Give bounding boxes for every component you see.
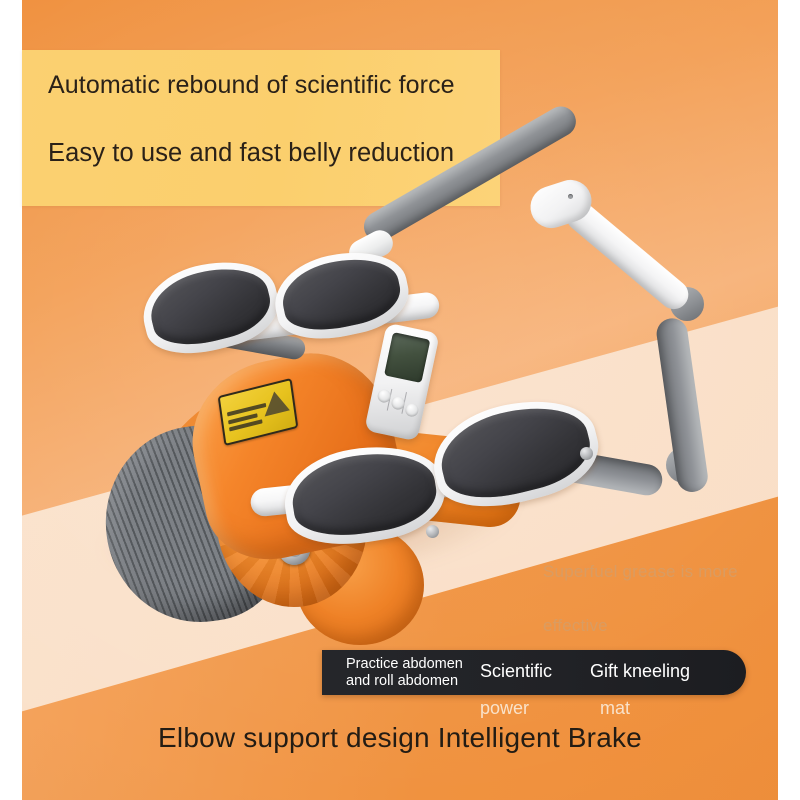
headline-line-1: Automatic rebound of scientific force bbox=[48, 70, 478, 100]
display-button-reset[interactable] bbox=[404, 402, 419, 417]
sticker-text-line bbox=[227, 403, 266, 417]
headline-line-2: Easy to use and fast belly reduction bbox=[48, 138, 498, 168]
feature-overflow-2: mat bbox=[600, 698, 630, 719]
bottom-title: Elbow support design Intelligent Brake bbox=[0, 722, 800, 754]
elbow-pad-pivot bbox=[426, 525, 439, 538]
digital-counter-display bbox=[364, 323, 440, 442]
feature-bar: Practice abdomen and roll abdomen Scient… bbox=[322, 650, 746, 695]
feature-item-3: Gift kneeling bbox=[590, 661, 690, 682]
product-image bbox=[70, 175, 750, 675]
elbow-pad bbox=[432, 394, 597, 510]
handle-apex-screw bbox=[568, 194, 573, 199]
feature-item-1: Practice abdomen and roll abdomen bbox=[346, 656, 478, 690]
marketing-copy-line-2: effective bbox=[543, 616, 608, 636]
feature-overflow-1: power bbox=[480, 698, 529, 719]
handle-tube-right bbox=[655, 316, 710, 494]
feature-item-2: Scientific bbox=[480, 661, 552, 682]
product-marketing-poster: Automatic rebound of scientific force Ea… bbox=[0, 0, 800, 800]
warning-triangle-icon bbox=[262, 388, 290, 416]
marketing-copy-line-1: Superfuel grease is more bbox=[543, 562, 738, 582]
display-screen bbox=[384, 332, 430, 383]
elbow-pad bbox=[276, 249, 405, 338]
elbow-pad-pivot bbox=[580, 447, 593, 460]
